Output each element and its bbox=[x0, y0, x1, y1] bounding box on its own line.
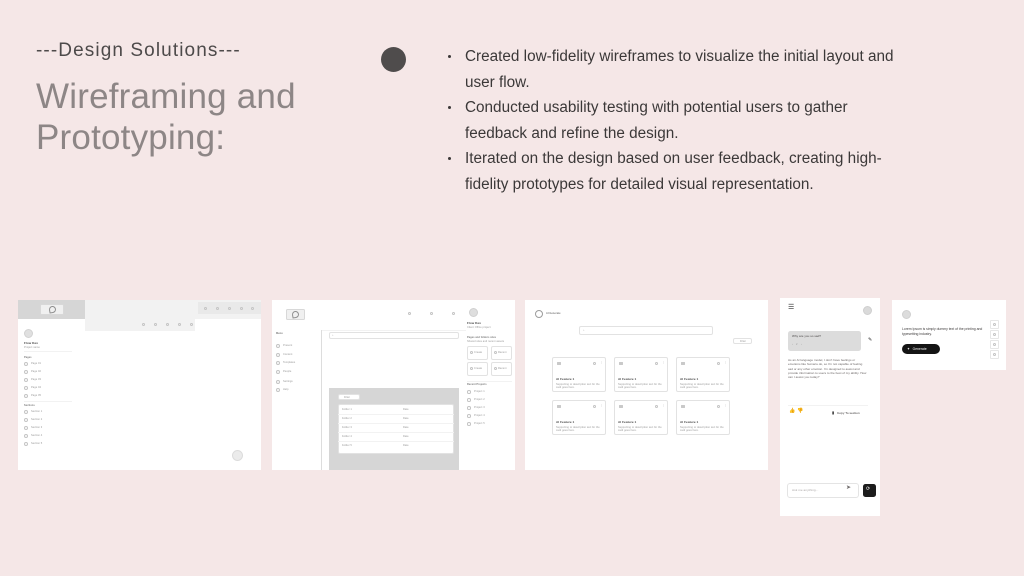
thumbnail-row: Text including editor Text including edi… bbox=[0, 296, 1024, 526]
copy-to-section-label[interactable]: Copy To section bbox=[837, 412, 860, 415]
search-input[interactable] bbox=[329, 332, 459, 339]
list-item: Iterated on the design based on user fee… bbox=[445, 146, 910, 197]
avatar bbox=[24, 329, 33, 338]
nav-group-header: Menu bbox=[276, 332, 283, 335]
option-dot-icon bbox=[993, 333, 996, 336]
recent-item[interactable]: Project 1 bbox=[474, 390, 485, 393]
nav-item[interactable]: Templates bbox=[283, 361, 295, 364]
kebab-icon[interactable]: ⋮ bbox=[662, 361, 665, 364]
table-row-meta: Date bbox=[403, 426, 409, 429]
feature-card-title: AI Feature 1 bbox=[556, 378, 574, 381]
feature-card-title: AI Feature 1 bbox=[556, 421, 574, 424]
avatar bbox=[469, 308, 478, 317]
nav-item[interactable]: Present bbox=[283, 344, 292, 347]
nav-item[interactable]: People bbox=[283, 370, 291, 373]
list-item: Created low-fidelity wireframes to visua… bbox=[445, 44, 910, 95]
feature-card-description: Supporting or description text for the c… bbox=[618, 383, 664, 390]
feature-card-description: Supporting or description text for the c… bbox=[618, 426, 664, 433]
nav-item[interactable]: Help bbox=[283, 388, 289, 391]
thumbnail-generate-panel[interactable]: Lorem Ipsum is simply dummy text of the … bbox=[892, 300, 1006, 370]
panel-subtitle: Client Office project bbox=[467, 326, 491, 329]
table-row-label[interactable]: Folder 1 bbox=[342, 408, 352, 411]
app-logo-icon bbox=[48, 305, 56, 313]
sparkle-icon: ✦ bbox=[907, 347, 910, 351]
thumbs-up-icon[interactable]: 👍 bbox=[789, 410, 795, 413]
tile-label[interactable]: Recent bbox=[498, 367, 507, 370]
filter-label: Filter bbox=[344, 396, 350, 399]
page-title: Wireframing and Prototyping: bbox=[36, 76, 366, 158]
table-row-meta: Date bbox=[403, 408, 409, 411]
thumbnail-dashboard-sidebar[interactable]: Text including editor Text including edi… bbox=[18, 300, 261, 470]
project-subtitle: Project name bbox=[24, 346, 40, 349]
nav-item[interactable]: Content bbox=[283, 353, 292, 356]
panel-heading-secondary: Shared sites and recent assets bbox=[467, 340, 504, 343]
hamburger-menu-icon[interactable]: ☰ bbox=[788, 306, 794, 309]
send-icon[interactable]: ➤ bbox=[846, 487, 851, 490]
nav-item[interactable]: Settings bbox=[283, 380, 293, 383]
option-dot-icon bbox=[993, 353, 996, 356]
sidebar-item-label[interactable]: Page 04 bbox=[31, 386, 41, 389]
feature-card-title: AI Feature 1 bbox=[680, 378, 698, 381]
feature-card-description: Supporting or description text for the c… bbox=[556, 383, 602, 390]
feature-card-title: AI Feature 1 bbox=[680, 421, 698, 424]
pager-count: 2 bbox=[796, 343, 798, 346]
edit-pencil-icon[interactable]: ✎ bbox=[868, 339, 872, 342]
thumbnail-ai-feature-grid[interactable]: AI Generate ⌕ Filter ⋮ AI Feature 1 Supp… bbox=[525, 300, 768, 470]
bullet-list: Created low-fidelity wireframes to visua… bbox=[445, 44, 910, 197]
generate-button[interactable]: ✦ Generate bbox=[902, 344, 940, 354]
refresh-icon: ⟳ bbox=[866, 488, 870, 491]
fab-button[interactable] bbox=[232, 450, 243, 461]
project-title: Flow Dex bbox=[24, 342, 38, 345]
feature-card-description: Supporting or description text for the c… bbox=[680, 426, 726, 433]
assistant-message-text: As an AI language model, I don't have fe… bbox=[788, 358, 868, 379]
tile-label[interactable]: Create bbox=[474, 351, 482, 354]
chat-input-placeholder: Ask me anything... bbox=[792, 489, 818, 492]
avatar bbox=[902, 310, 911, 319]
recent-item[interactable]: Project 5 bbox=[474, 422, 485, 425]
kebab-icon[interactable]: ⋮ bbox=[662, 404, 665, 407]
sidebar-item-label[interactable]: Section 5 bbox=[31, 442, 42, 445]
feature-card-description: Supporting or description text for the c… bbox=[556, 426, 602, 433]
table-row-label[interactable]: Folder 5 bbox=[342, 444, 352, 447]
panel-title: Flow Dex bbox=[467, 322, 481, 325]
table-row-meta: Date bbox=[403, 417, 409, 420]
thumbs-down-icon[interactable]: 👎 bbox=[797, 410, 803, 413]
thumbnail-mobile-ai-chat[interactable]: ☰ Why are you so sad? ‹ 2 › ✎ As an AI l… bbox=[780, 298, 880, 516]
group-header: Pages bbox=[24, 356, 32, 359]
feature-card-title: AI Feature 1 bbox=[618, 378, 636, 381]
tile-label[interactable]: Recent bbox=[498, 351, 507, 354]
filter-label: Filter bbox=[740, 340, 746, 343]
feature-card-description: Supporting or description text for the c… bbox=[680, 383, 726, 390]
option-dot-icon bbox=[993, 323, 996, 326]
kebab-icon[interactable]: ⋮ bbox=[600, 361, 603, 364]
panel-heading: Pages and folders sites bbox=[467, 336, 496, 339]
thumbnail-table-workspace[interactable]: Present Menu Present Content Templates P… bbox=[272, 300, 515, 470]
body-text: Lorem Ipsum is simply dummy text of the … bbox=[902, 327, 990, 337]
recent-header: Recent Projects bbox=[467, 383, 487, 386]
avatar[interactable] bbox=[863, 306, 872, 315]
option-dot-icon bbox=[993, 343, 996, 346]
table-row-label[interactable]: Folder 3 bbox=[342, 426, 352, 429]
recent-item[interactable]: Project 3 bbox=[474, 406, 485, 409]
user-message-text: Why are you so sad? bbox=[792, 334, 821, 338]
search-icon: ⌕ bbox=[583, 329, 585, 332]
table-row-meta: Date bbox=[403, 435, 409, 438]
recent-item[interactable]: Project 2 bbox=[474, 398, 485, 401]
generate-label: Generate bbox=[913, 347, 927, 351]
sidebar-item-label[interactable]: Section 4 bbox=[31, 434, 42, 437]
accent-dot-icon bbox=[381, 47, 406, 72]
brand-label: AI Generate bbox=[546, 312, 561, 315]
sidebar-item-label[interactable]: Section 2 bbox=[31, 418, 42, 421]
search-input[interactable] bbox=[579, 326, 713, 335]
sidebar-item-label[interactable]: Section 3 bbox=[31, 426, 42, 429]
sidebar-item-label[interactable]: Page 03 bbox=[31, 378, 41, 381]
copy-icon[interactable]: ▮ bbox=[832, 411, 834, 414]
slide-root: ---Design Solutions--- Wireframing and P… bbox=[0, 0, 1024, 576]
table-row-meta: Date bbox=[403, 444, 409, 447]
group-header: Sections bbox=[24, 404, 35, 407]
sidebar-item-label[interactable]: Section 1 bbox=[31, 410, 42, 413]
sidebar-item-label[interactable]: Page 02 bbox=[31, 370, 41, 373]
list-item: Conducted usability testing with potenti… bbox=[445, 95, 910, 146]
app-logo-icon bbox=[291, 310, 299, 318]
table-row-label[interactable]: Folder 4 bbox=[342, 435, 352, 438]
pager-next-icon[interactable]: › bbox=[801, 343, 802, 346]
kebab-icon[interactable]: ⋮ bbox=[724, 361, 727, 364]
recent-item[interactable]: Project 4 bbox=[474, 414, 485, 417]
table-row-label[interactable]: Folder 2 bbox=[342, 417, 352, 420]
feature-card-title: AI Feature 1 bbox=[618, 421, 636, 424]
sidebar-item-label[interactable]: Page 01 bbox=[31, 362, 41, 365]
kebab-icon[interactable]: ⋮ bbox=[724, 404, 727, 407]
brand-icon bbox=[535, 310, 543, 318]
pager-prev-icon[interactable]: ‹ bbox=[792, 343, 793, 346]
tile-label[interactable]: Create bbox=[474, 367, 482, 370]
eyebrow-label: ---Design Solutions--- bbox=[36, 40, 241, 62]
sidebar-item-label[interactable]: Page 05 bbox=[31, 394, 41, 397]
kebab-icon[interactable]: ⋮ bbox=[600, 404, 603, 407]
search-icon: ⌕ bbox=[332, 334, 334, 337]
